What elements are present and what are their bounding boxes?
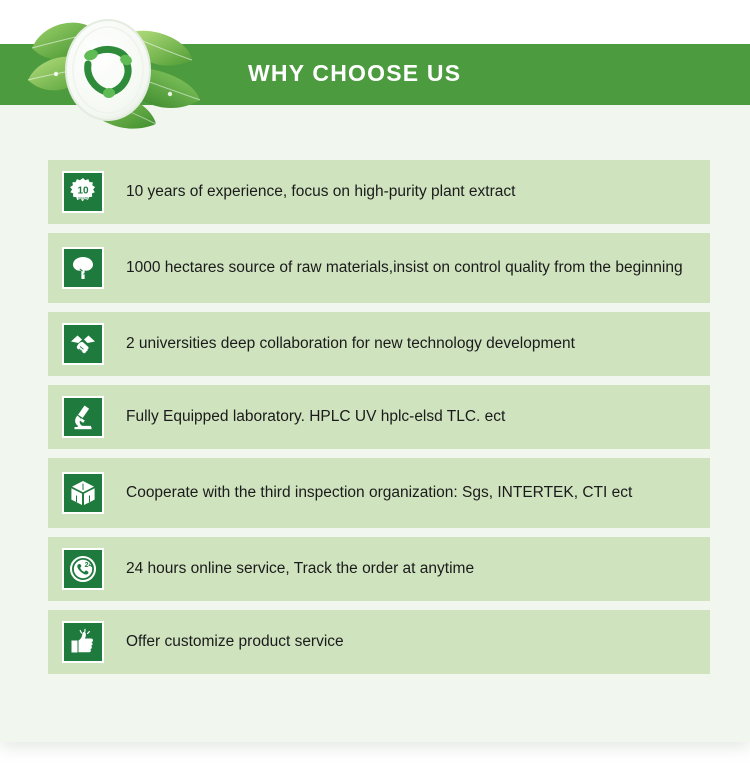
why-choose-us-banner: WHY CHOOSE US 10 years 10 years of exper… — [0, 0, 750, 766]
list-item[interactable]: 24 24 hours online service, Track the or… — [48, 537, 710, 601]
24-hour-phone-icon: 24 — [62, 548, 104, 590]
ten-years-badge-icon: 10 years — [62, 171, 104, 213]
package-box-icon — [62, 472, 104, 514]
feature-list: 10 years 10 years of experience, focus o… — [48, 160, 710, 683]
list-item-text: Fully Equipped laboratory. HPLC UV hplc-… — [126, 406, 515, 428]
tree-icon — [62, 247, 104, 289]
leaf-emblem-logo — [22, 8, 232, 138]
list-item-text: Cooperate with the third inspection orga… — [126, 482, 642, 504]
list-item[interactable]: 2 universities deep collaboration for ne… — [48, 312, 710, 376]
list-item-text: 1000 hectares source of raw materials,in… — [126, 257, 693, 279]
list-item-text: 24 hours online service, Track the order… — [126, 558, 484, 580]
list-item-text: Offer customize product service — [126, 631, 354, 653]
thumbs-up-icon — [62, 621, 104, 663]
microscope-icon — [62, 396, 104, 438]
list-item-text: 2 universities deep collaboration for ne… — [126, 333, 585, 355]
page-title: WHY CHOOSE US — [248, 60, 461, 87]
svg-text:24: 24 — [85, 562, 93, 569]
list-item[interactable]: Fully Equipped laboratory. HPLC UV hplc-… — [48, 385, 710, 449]
list-item[interactable]: Offer customize product service — [48, 610, 710, 674]
list-item[interactable]: 1000 hectares source of raw materials,in… — [48, 233, 710, 303]
handshake-icon — [62, 323, 104, 365]
svg-text:years: years — [78, 196, 88, 201]
list-item[interactable]: Cooperate with the third inspection orga… — [48, 458, 710, 528]
list-item[interactable]: 10 years 10 years of experience, focus o… — [48, 160, 710, 224]
list-item-text: 10 years of experience, focus on high-pu… — [126, 181, 525, 203]
